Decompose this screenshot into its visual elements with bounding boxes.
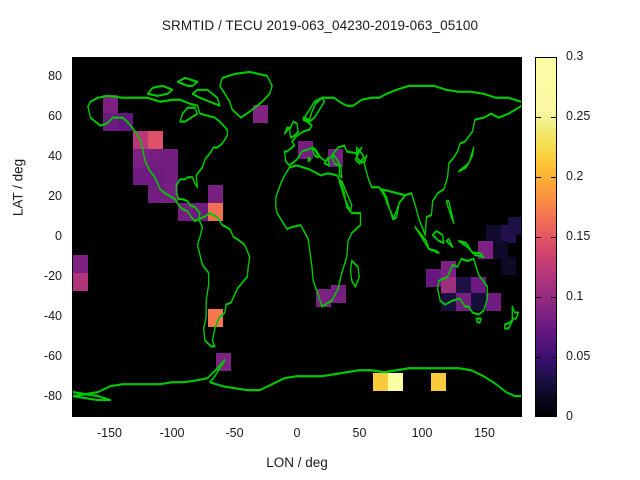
y-tick-label: -20 — [26, 269, 62, 283]
coastline-path — [459, 241, 484, 257]
map-plot-area — [72, 57, 522, 417]
coastline-path — [73, 360, 521, 396]
coastline-path — [433, 231, 444, 243]
x-tick-label: 150 — [455, 426, 515, 440]
coastline-path — [351, 261, 360, 287]
coastline-path — [446, 239, 452, 247]
x-tick-label: -100 — [142, 426, 202, 440]
coastline-path — [505, 319, 514, 329]
x-tick-label: 0 — [267, 426, 327, 440]
coastline-path — [88, 96, 227, 219]
y-tick-label: -80 — [26, 389, 62, 403]
y-tick-label: -40 — [26, 309, 62, 323]
colorbar-tick-label: 0.05 — [566, 349, 626, 363]
coastline-path — [276, 165, 361, 306]
x-tick-label: 100 — [392, 426, 452, 440]
coastline-path — [446, 201, 453, 223]
coastline-path — [197, 213, 249, 346]
colorbar-tick-mark — [551, 357, 557, 358]
coastline-path — [73, 394, 110, 400]
colorbar-tick-label: 0.1 — [566, 289, 626, 303]
coastline-path — [308, 157, 310, 161]
colorbar-tick-mark — [551, 237, 557, 238]
x-tick-label: 50 — [330, 426, 390, 440]
coastline-path — [192, 90, 219, 106]
coastline-path — [220, 72, 272, 118]
x-axis-label: LON / deg — [72, 455, 522, 470]
y-tick-label: 80 — [26, 69, 62, 83]
colorbar-tick-mark — [535, 357, 541, 358]
x-tick-label: -50 — [205, 426, 265, 440]
coastline-path — [88, 107, 199, 221]
colorbar-tick-mark — [551, 177, 557, 178]
colorbar-tick-mark — [535, 117, 541, 118]
coastline-path — [180, 108, 197, 122]
coastline-path — [382, 189, 406, 219]
coastline-overlay — [73, 58, 521, 416]
coastline-path — [476, 319, 481, 323]
chart-title: SRMTID / TECU 2019-063_04230-2019-063_05… — [0, 18, 640, 33]
colorbar-tick-label: 0 — [566, 409, 626, 423]
y-axis-label: LAT / deg — [11, 118, 26, 258]
colorbar-tick-mark — [535, 177, 541, 178]
coastline-path — [285, 86, 521, 152]
x-tick-label: -150 — [80, 426, 140, 440]
coastline-path — [148, 86, 173, 96]
coastline-path — [285, 128, 290, 134]
y-tick-label: 40 — [26, 149, 62, 163]
coastline-path — [178, 78, 198, 86]
y-tick-label: 0 — [26, 229, 62, 243]
coastline-path — [438, 259, 488, 315]
y-tick-label: 60 — [26, 109, 62, 123]
y-tick-label: 20 — [26, 189, 62, 203]
colorbar-tick-mark — [551, 297, 557, 298]
coastline-path — [459, 148, 474, 172]
y-tick-label: -60 — [26, 349, 62, 363]
colorbar-tick-mark — [551, 117, 557, 118]
coastline-path — [285, 106, 521, 235]
colorbar-tick-mark — [535, 297, 541, 298]
coastline-path — [512, 307, 518, 319]
colorbar-tick-label: 0.15 — [566, 229, 626, 243]
colorbar-tick-label: 0.3 — [566, 49, 626, 63]
figure-canvas: SRMTID / TECU 2019-063_04230-2019-063_05… — [0, 0, 640, 480]
colorbar-tick-mark — [535, 237, 541, 238]
colorbar-tick-label: 0.2 — [566, 169, 626, 183]
colorbar-tick-label: 0.25 — [566, 109, 626, 123]
